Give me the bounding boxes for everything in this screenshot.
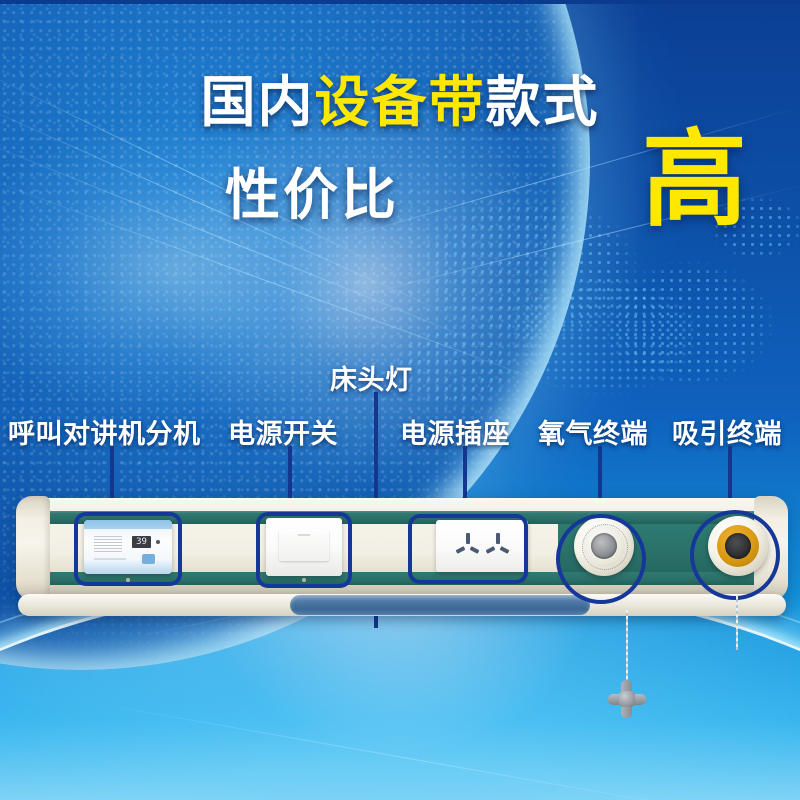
bed-light-diffuser[interactable] [290, 595, 590, 615]
pull-cord-handle[interactable] [608, 680, 646, 718]
callout-label-bed-light: 床头灯 [330, 358, 413, 397]
headline-subtext: 性价比 [225, 150, 399, 230]
highlight-box-intercom [74, 512, 182, 586]
headline-emphasis-big: 高 [642, 128, 747, 233]
callout-label-power-socket: 电源插座 [400, 412, 510, 451]
callout-label-power-switch: 电源开关 [228, 412, 338, 451]
highlight-box-power-socket [408, 514, 528, 584]
highlight-circle-suction-terminal [690, 510, 780, 600]
pull-cord-suction[interactable] [736, 596, 738, 650]
pull-cord-oxygen[interactable] [626, 610, 628, 688]
headline-text-part2: 款式 [486, 70, 600, 134]
poster-canvas: 国内设备带款式 性价比 高 呼叫对讲机分机 电源开关 床头灯 电源插座 氧气终端… [0, 0, 800, 800]
headline-text-part1: 国内 [200, 70, 314, 134]
panel-end-cap-left [16, 496, 50, 600]
top-edge-bar [0, 0, 800, 4]
pull-handle-center [619, 691, 635, 707]
highlight-circle-oxygen-terminal [556, 514, 646, 604]
callout-label-intercom: 呼叫对讲机分机 [8, 412, 201, 451]
highlight-box-power-switch [256, 512, 352, 588]
callout-label-suction-terminal: 吸引终端 [672, 412, 782, 451]
callout-label-oxygen-terminal: 氧气终端 [538, 412, 648, 451]
headline-text-highlight: 设备带 [314, 70, 485, 134]
